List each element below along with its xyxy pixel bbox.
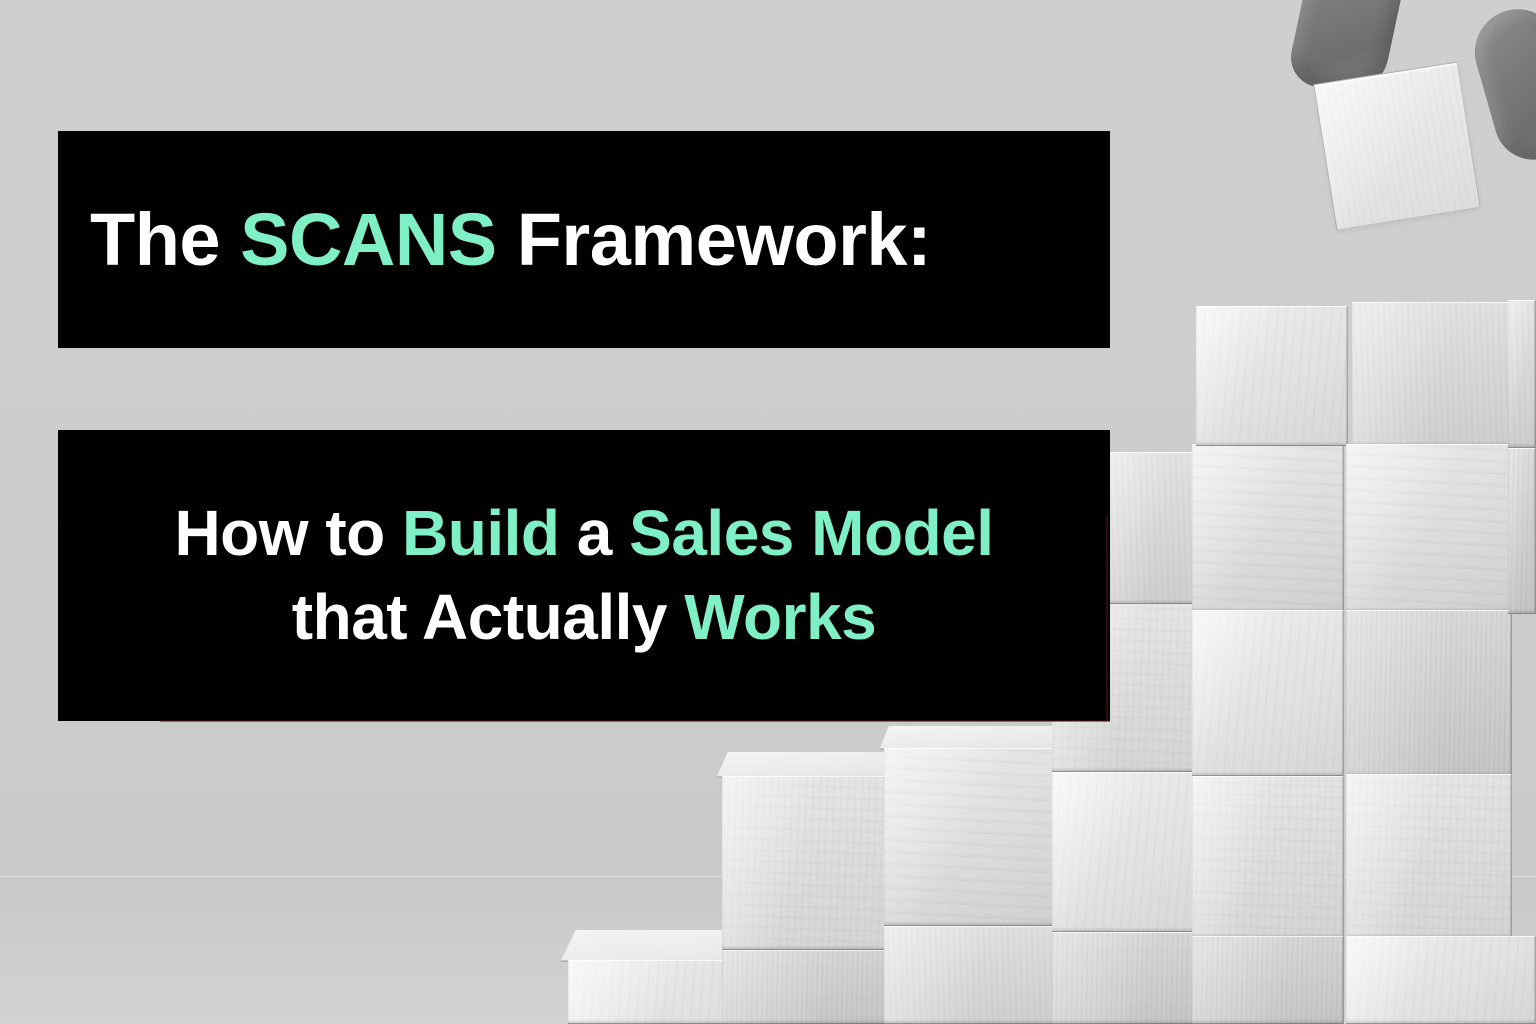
wooden-block	[1352, 302, 1512, 446]
wooden-block	[722, 776, 892, 950]
wooden-block	[1196, 306, 1348, 446]
page-title: The SCANS Framework:	[58, 203, 1110, 277]
subtitle-segment-accent: Build	[402, 497, 559, 569]
subtitle-segment-plain: How to	[174, 497, 402, 569]
wooden-block	[1508, 300, 1536, 448]
wooden-block	[1108, 452, 1200, 604]
wooden-block	[1346, 610, 1512, 776]
bar-right-edge	[1106, 515, 1108, 721]
subtitle-line-two: that Actually Works	[58, 576, 1110, 659]
subtitle-segment-accent: Works	[684, 581, 876, 653]
held-wooden-block	[1313, 61, 1480, 230]
title-segment-plain: The	[90, 198, 240, 281]
headline-bar-primary: The SCANS Framework:	[58, 131, 1110, 348]
wooden-block	[1346, 936, 1536, 1024]
title-segment-accent: SCANS	[240, 198, 497, 281]
wooden-block	[1192, 610, 1344, 776]
title-card-canvas: The SCANS Framework: How to Build a Sale…	[0, 0, 1536, 1024]
wooden-block-top-face	[716, 752, 898, 778]
subtitle-line-one: How to Build a Sales Model	[58, 492, 1110, 575]
wooden-block	[884, 748, 1060, 926]
headline-bar-secondary: How to Build a Sales Model that Actually…	[58, 430, 1110, 721]
wooden-block	[722, 950, 892, 1024]
subtitle-segment-plain: a	[559, 497, 629, 569]
wooden-block	[1346, 444, 1512, 612]
wooden-block	[1508, 448, 1536, 614]
bar-bottom-edge	[160, 720, 1110, 722]
wooden-block	[1192, 936, 1344, 1024]
wooden-block	[884, 926, 1060, 1024]
wooden-block	[1192, 444, 1344, 612]
wooden-block	[1192, 776, 1344, 938]
title-segment-plain: Framework:	[497, 198, 932, 281]
subtitle-segment-plain: that Actually	[292, 581, 684, 653]
wooden-block	[1346, 774, 1512, 938]
wooden-block-top-face	[879, 726, 1065, 750]
subtitle-segment-accent: Sales Model	[629, 497, 993, 569]
